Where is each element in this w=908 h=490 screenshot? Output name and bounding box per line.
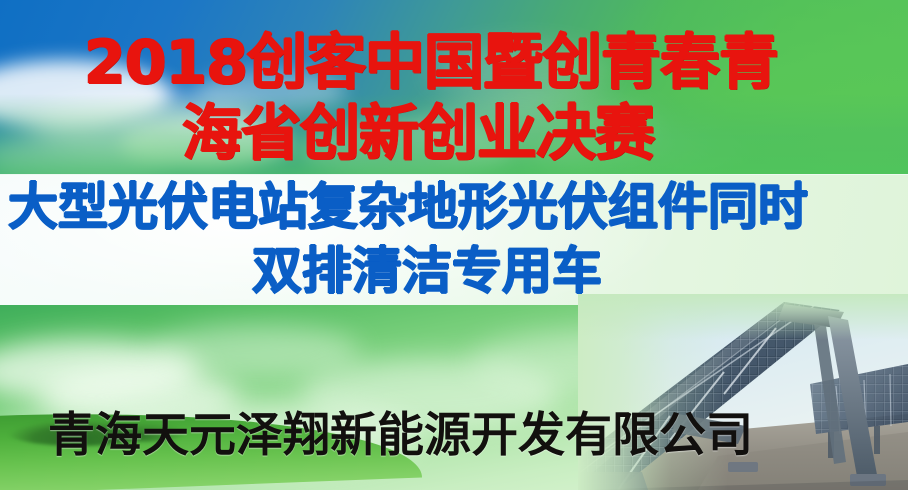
company-name: 青海天元泽翔新能源开发有限公司 bbox=[48, 412, 753, 459]
headline-line-1: 2018创客中国暨创青春青 bbox=[84, 33, 778, 93]
poster-banner: 2018创客中国暨创青春青 海省创新创业决赛 大型光伏电站复杂地形光伏组件同时 … bbox=[0, 0, 908, 490]
subject-line-1: 大型光伏电站复杂地形光伏组件同时 bbox=[8, 182, 808, 232]
subject-line-2: 双排清洁专用车 bbox=[252, 246, 602, 296]
headline-line-2: 海省创新创业决赛 bbox=[182, 104, 654, 164]
